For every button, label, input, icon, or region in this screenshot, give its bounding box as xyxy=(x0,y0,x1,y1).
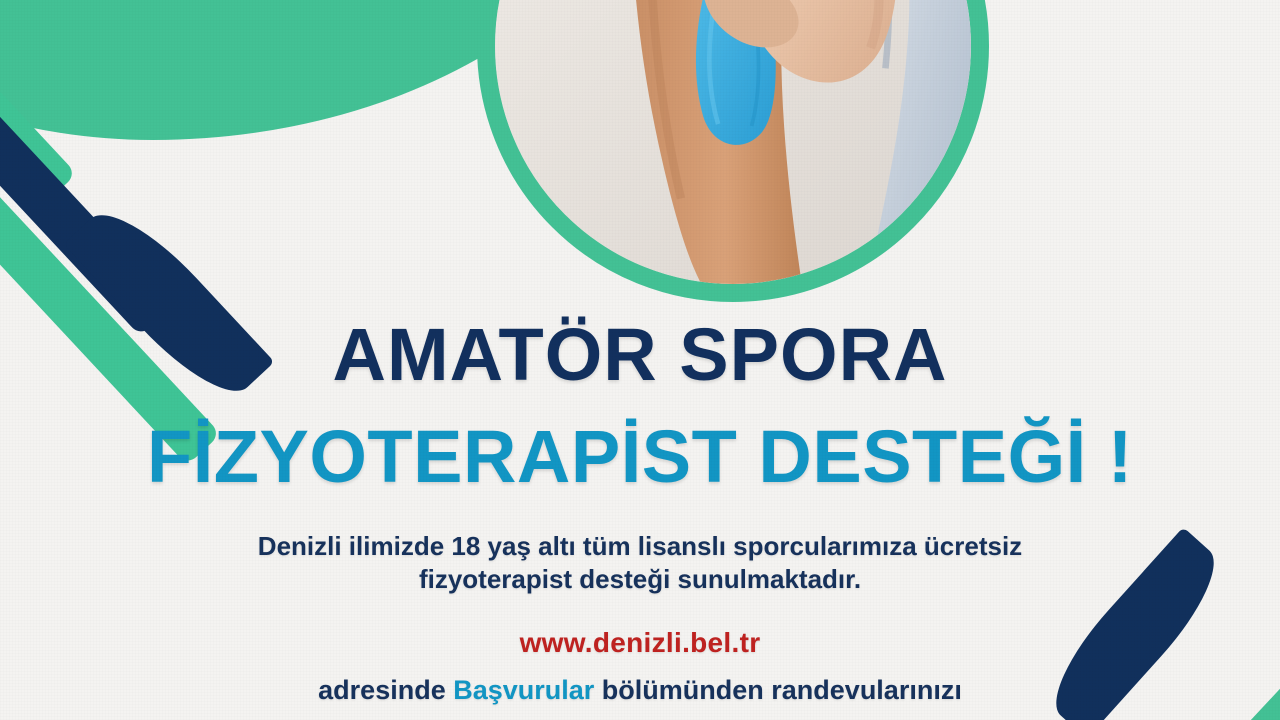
poster-cta-line: adresinde Başvurular bölümünden randevul… xyxy=(0,675,1280,706)
physiotherapy-photo-circle xyxy=(477,0,989,302)
cta-applications-link[interactable]: Başvurular xyxy=(453,675,594,705)
physiotherapy-photo xyxy=(495,0,971,284)
poster-subheadline: FİZYOTERAPİST DESTEĞİ ! xyxy=(0,420,1280,494)
poster-canvas: AMATÖR SPORA FİZYOTERAPİST DESTEĞİ ! Den… xyxy=(0,0,1280,720)
poster-headline: AMATÖR SPORA xyxy=(0,318,1280,392)
website-url[interactable]: www.denizli.bel.tr xyxy=(0,627,1280,659)
poster-body-block: Denizli ilimizde 18 yaş altı tüm lisansl… xyxy=(0,530,1280,597)
cta-suffix-text: bölümünden randevularınızı xyxy=(594,675,962,705)
physiotherapy-illustration-icon xyxy=(495,0,971,284)
poster-text-block: AMATÖR SPORA FİZYOTERAPİST DESTEĞİ ! Den… xyxy=(0,318,1280,706)
poster-body-line-2: fizyoterapist desteği sunulmaktadır. xyxy=(0,563,1280,596)
poster-body-line-1: Denizli ilimizde 18 yaş altı tüm lisansl… xyxy=(0,530,1280,563)
cta-prefix-text: adresinde xyxy=(318,675,453,705)
